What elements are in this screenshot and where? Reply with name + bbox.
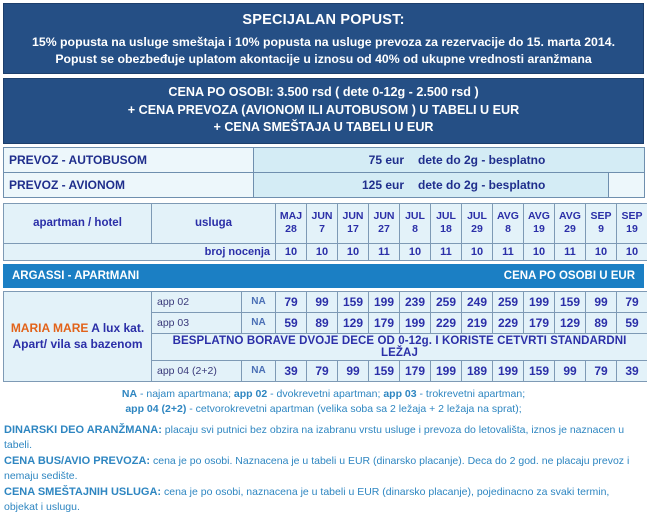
service-name-1: app 03 <box>152 312 242 333</box>
service-name-2: app 04 (2+2) <box>152 360 242 381</box>
transport-price-line: + CENA PREVOZA (AVIONOM ILI AUTOBUSOM ) … <box>10 102 637 120</box>
special-discount-title: SPECIJALAN POPUST: <box>10 8 637 34</box>
transport-plane-label: PREVOZ - AVIONOM <box>4 172 254 197</box>
price-2-6: 189 <box>462 360 493 381</box>
month-name: JUL <box>462 210 492 223</box>
service-name-0: app 02 <box>152 291 242 312</box>
accommodation-price-line: + CENA SMEŠTAJA U TABELI U EUR <box>10 119 637 137</box>
price-2-9: 99 <box>555 360 586 381</box>
month-name: SEP <box>586 210 616 223</box>
section-bar-argassi: ARGASSI - APARtMANI CENA PO OSOBI U EUR <box>3 264 644 288</box>
col-header-month-7: AVG8 <box>493 203 524 243</box>
price-2-0: 39 <box>276 360 307 381</box>
nights-value-4: 10 <box>400 243 431 260</box>
na-label-2: NA <box>242 360 276 381</box>
price-1-10: 89 <box>586 312 617 333</box>
section-price-unit: CENA PO OSOBI U EUR <box>324 264 644 287</box>
nights-value-7: 11 <box>493 243 524 260</box>
hotel-brand: MARIA MARE <box>11 321 89 335</box>
nights-label: broj nocenja <box>4 243 276 260</box>
price-2-3: 159 <box>369 360 400 381</box>
transport-plane-value: 125 eurdete do 2g - besplatno <box>254 172 609 197</box>
col-header-hotel: apartman / hotel <box>4 203 152 243</box>
col-header-service: usluga <box>152 203 276 243</box>
col-header-month-10: SEP9 <box>586 203 617 243</box>
price-0-7: 259 <box>493 291 524 312</box>
price-table-header: apartman / hotel usluga MAJ28 JUN7 JUN17… <box>3 203 647 261</box>
price-0-2: 159 <box>338 291 369 312</box>
price-2-10: 79 <box>586 360 617 381</box>
price-1-1: 89 <box>307 312 338 333</box>
price-1-7: 229 <box>493 312 524 333</box>
table-row: PREVOZ - AUTOBUSOM 75 eurdete do 2g - be… <box>4 147 645 172</box>
table-row: MARIA MARE A lux kat. Apart/ vila sa baz… <box>4 291 647 312</box>
legend-na-key: NA <box>122 388 137 400</box>
month-name: MAJ <box>276 210 306 223</box>
note-smestaj: CENA SMEŠTAJNIH USLUGA: cena je po osobi… <box>4 485 643 516</box>
transport-bus-value: 75 eurdete do 2g - besplatno <box>254 147 645 172</box>
table-row: ARGASSI - APARtMANI CENA PO OSOBI U EUR <box>4 264 644 287</box>
month-name: JUN <box>338 210 368 223</box>
month-name: JUN <box>307 210 337 223</box>
month-name: AVG <box>555 210 585 223</box>
apartment-legend: NA - najam apartmana; app 02 - dvokrevet… <box>0 382 647 417</box>
legend-app02-desc: - dvokrevetni apartman; <box>267 388 383 400</box>
free-children-note: BESPLATNO BORAVE DVOJE DECE OD 0-12g. I … <box>152 333 647 360</box>
legend-line-2: app 04 (2+2) - cetvorokrevetni apartman … <box>6 402 641 417</box>
col-header-month-6: JUL29 <box>462 203 493 243</box>
price-1-9: 129 <box>555 312 586 333</box>
price-table-body: MARIA MARE A lux kat. Apart/ vila sa baz… <box>3 291 647 382</box>
price-2-1: 79 <box>307 360 338 381</box>
price-2-11: 39 <box>617 360 647 381</box>
legend-app03-key: app 03 <box>383 388 416 400</box>
transport-bus-label: PREVOZ - AUTOBUSOM <box>4 147 254 172</box>
col-header-month-3: JUN27 <box>369 203 400 243</box>
col-header-month-4: JUL8 <box>400 203 431 243</box>
col-header-month-9: AVG29 <box>555 203 586 243</box>
col-header-month-1: JUN7 <box>307 203 338 243</box>
month-name: JUL <box>431 210 461 223</box>
month-name: SEP <box>617 210 647 223</box>
col-header-month-0: MAJ28 <box>276 203 307 243</box>
price-0-10: 99 <box>586 291 617 312</box>
transport-bus-price: 75 eur <box>259 153 404 167</box>
legend-na-desc: - najam apartmana; <box>137 388 234 400</box>
price-per-person-line: CENA PO OSOBI: 3.500 rsd ( dete 0-12g - … <box>10 84 637 102</box>
price-0-4: 239 <box>400 291 431 312</box>
price-2-2: 99 <box>338 360 369 381</box>
col-header-month-5: JUL18 <box>431 203 462 243</box>
legend-app03-desc: - trokrevetni apartman; <box>417 388 526 400</box>
price-0-3: 199 <box>369 291 400 312</box>
transport-bus-note: dete do 2g - besplatno <box>404 153 545 167</box>
hotel-name-cell: MARIA MARE A lux kat. Apart/ vila sa baz… <box>4 291 152 381</box>
special-discount-line2: Popust se obezbeđuje uplatom akontacije … <box>10 51 637 68</box>
special-discount-banner: SPECIJALAN POPUST: 15% popusta na usluge… <box>3 3 644 74</box>
month-day: 27 <box>369 223 399 236</box>
month-day: 8 <box>493 223 523 236</box>
price-0-9: 159 <box>555 291 586 312</box>
transport-table: PREVOZ - AUTOBUSOM 75 eurdete do 2g - be… <box>3 147 645 198</box>
note-dinarski-title: DINARSKI DEO ARANŽMANA: <box>4 424 162 436</box>
price-0-8: 199 <box>524 291 555 312</box>
table-header-row: apartman / hotel usluga MAJ28 JUN7 JUN17… <box>4 203 647 243</box>
nights-value-0: 10 <box>276 243 307 260</box>
month-name: JUN <box>369 210 399 223</box>
price-0-6: 249 <box>462 291 493 312</box>
nights-value-8: 10 <box>524 243 555 260</box>
note-prevoz: CENA BUS/AVIO PREVOZA: cena je po osobi.… <box>4 454 643 485</box>
price-1-11: 59 <box>617 312 647 333</box>
col-header-month-11: SEP19 <box>617 203 647 243</box>
nights-value-6: 10 <box>462 243 493 260</box>
transport-plane-price: 125 eur <box>259 178 404 192</box>
price-0-11: 79 <box>617 291 647 312</box>
transport-plane-note: dete do 2g - besplatno <box>404 178 545 192</box>
month-name: AVG <box>524 210 554 223</box>
legend-app04-desc: - cetvorokrevetni apartman (velika soba … <box>186 403 521 415</box>
price-0-1: 99 <box>307 291 338 312</box>
hotel-category: A lux kat. <box>88 321 144 335</box>
price-1-3: 179 <box>369 312 400 333</box>
na-label-1: NA <box>242 312 276 333</box>
note-prevoz-title: CENA BUS/AVIO PREVOZA: <box>4 455 150 467</box>
nights-value-3: 11 <box>369 243 400 260</box>
month-day: 19 <box>617 223 647 236</box>
price-2-8: 159 <box>524 360 555 381</box>
na-label-0: NA <box>242 291 276 312</box>
price-2-5: 199 <box>431 360 462 381</box>
legend-line-1: NA - najam apartmana; app 02 - dvokrevet… <box>6 387 641 402</box>
nights-value-1: 10 <box>307 243 338 260</box>
price-1-0: 59 <box>276 312 307 333</box>
price-2-4: 179 <box>400 360 431 381</box>
price-list-page: SPECIJALAN POPUST: 15% popusta na usluge… <box>0 3 647 531</box>
col-header-month-2: JUN17 <box>338 203 369 243</box>
special-discount-line1: 15% popusta na usluge smeštaja i 10% pop… <box>10 34 637 51</box>
legend-app02-key: app 02 <box>234 388 267 400</box>
price-0-5: 259 <box>431 291 462 312</box>
month-day: 28 <box>276 223 306 236</box>
price-1-8: 179 <box>524 312 555 333</box>
nights-value-9: 11 <box>555 243 586 260</box>
footer-notes: DINARSKI DEO ARANŽMANA: placaju svi putn… <box>0 417 647 516</box>
price-1-6: 219 <box>462 312 493 333</box>
transport-plane-pad <box>609 172 645 197</box>
nights-value-11: 10 <box>617 243 647 260</box>
price-2-7: 199 <box>493 360 524 381</box>
month-day: 9 <box>586 223 616 236</box>
month-day: 29 <box>555 223 585 236</box>
note-smestaj-title: CENA SMEŠTAJNIH USLUGA: <box>4 486 161 498</box>
month-day: 7 <box>307 223 337 236</box>
nights-value-10: 10 <box>586 243 617 260</box>
price-1-5: 229 <box>431 312 462 333</box>
hotel-subtitle: Apart/ vila sa bazenom <box>12 337 142 351</box>
nights-value-5: 11 <box>431 243 462 260</box>
price-1-2: 129 <box>338 312 369 333</box>
month-name: AVG <box>493 210 523 223</box>
note-dinarski: DINARSKI DEO ARANŽMANA: placaju svi putn… <box>4 423 643 454</box>
nights-row: broj nocenja 10 10 10 11 10 11 10 11 10 … <box>4 243 647 260</box>
price-1-4: 199 <box>400 312 431 333</box>
month-day: 29 <box>462 223 492 236</box>
table-row: PREVOZ - AVIONOM 125 eurdete do 2g - bes… <box>4 172 645 197</box>
price-summary-banner: CENA PO OSOBI: 3.500 rsd ( dete 0-12g - … <box>3 78 644 144</box>
month-name: JUL <box>400 210 430 223</box>
month-day: 19 <box>524 223 554 236</box>
month-day: 18 <box>431 223 461 236</box>
month-day: 8 <box>400 223 430 236</box>
price-0-0: 79 <box>276 291 307 312</box>
month-day: 17 <box>338 223 368 236</box>
col-header-month-8: AVG19 <box>524 203 555 243</box>
legend-app04-key: app 04 (2+2) <box>125 403 186 415</box>
nights-value-2: 10 <box>338 243 369 260</box>
section-title: ARGASSI - APARtMANI <box>4 264 324 287</box>
